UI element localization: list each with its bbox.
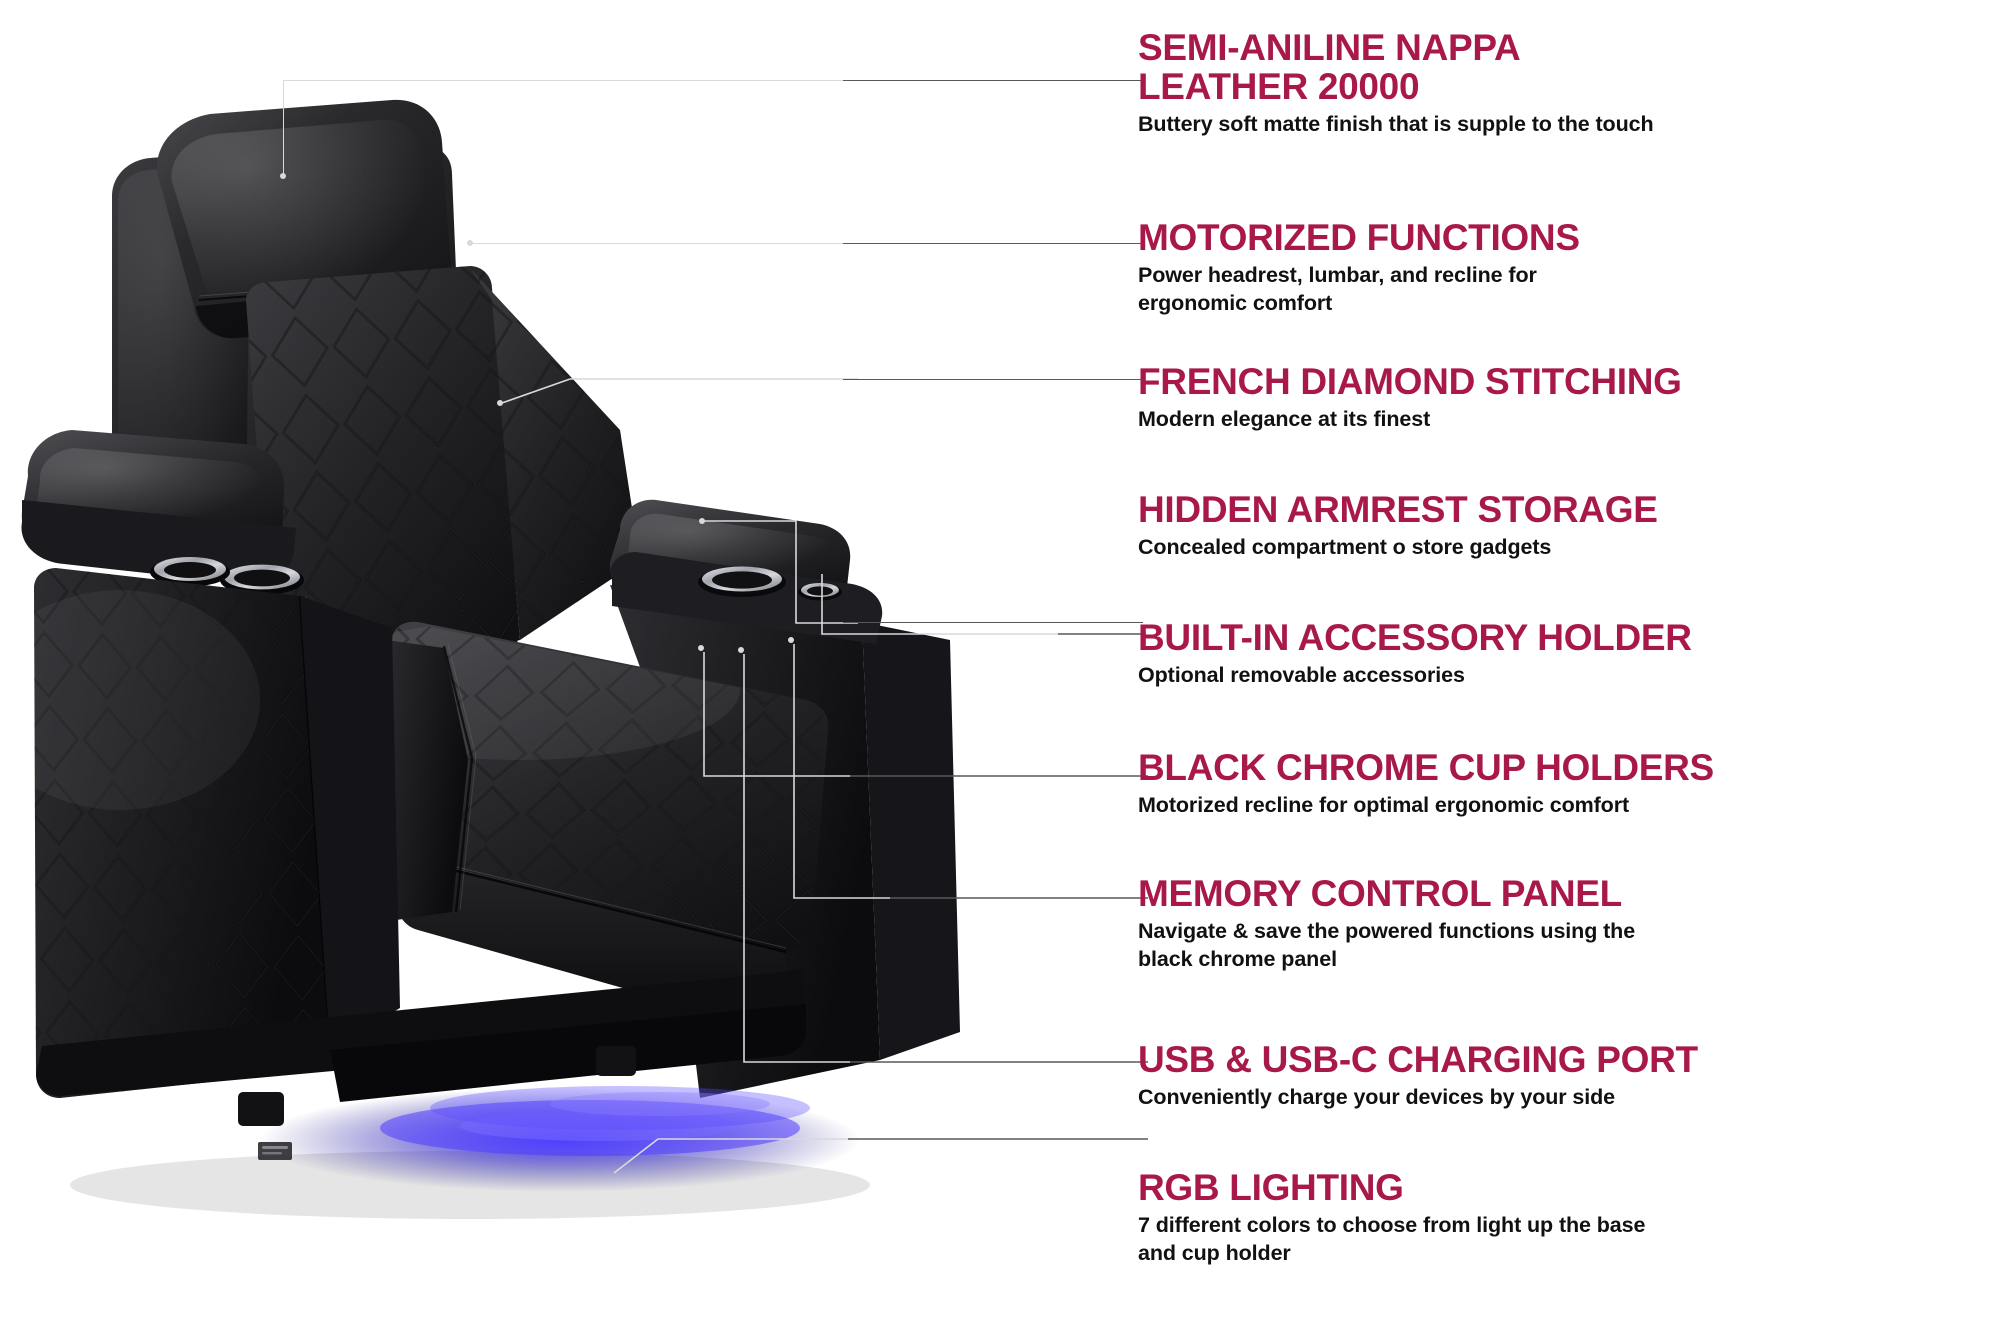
- feature-description: Optional removable accessories: [1138, 662, 1998, 690]
- feature-title: SEMI-ANILINE NAPPA LEATHER 20000: [1138, 28, 1998, 106]
- feature-title: RGB LIGHTING: [1138, 1168, 1998, 1207]
- feature-title: HIDDEN ARMREST STORAGE: [1138, 490, 1998, 529]
- feature-semi-aniline-nappa-leather: SEMI-ANILINE NAPPA LEATHER 20000 Buttery…: [1138, 28, 1998, 139]
- feature-built-in-accessory-holder: BUILT-IN ACCESSORY HOLDER Optional remov…: [1138, 618, 1998, 690]
- feature-description: Concealed compartment o store gadgets: [1138, 534, 1998, 562]
- product-image-recliner: [0, 0, 1140, 1334]
- feature-memory-control-panel: MEMORY CONTROL PANEL Navigate & save the…: [1138, 874, 1998, 974]
- feature-hidden-armrest-storage: HIDDEN ARMREST STORAGE Concealed compart…: [1138, 490, 1998, 562]
- feature-description: 7 different colors to choose from light …: [1138, 1212, 1998, 1268]
- feature-description: Power headrest, lumbar, and recline for …: [1138, 262, 1998, 318]
- feature-description: Conveniently charge your devices by your…: [1138, 1084, 1998, 1112]
- feature-usb-charging-port: USB & USB-C CHARGING PORT Conveniently c…: [1138, 1040, 1998, 1112]
- feature-title: FRENCH DIAMOND STITCHING: [1138, 362, 1998, 401]
- feature-black-chrome-cup-holders: BLACK CHROME CUP HOLDERS Motorized recli…: [1138, 748, 1998, 820]
- feature-title: BUILT-IN ACCESSORY HOLDER: [1138, 618, 1998, 657]
- feature-title: MOTORIZED FUNCTIONS: [1138, 218, 1998, 257]
- feature-motorized-functions: MOTORIZED FUNCTIONS Power headrest, lumb…: [1138, 218, 1998, 318]
- feature-rgb-lighting: RGB LIGHTING 7 different colors to choos…: [1138, 1168, 1998, 1268]
- feature-title: USB & USB-C CHARGING PORT: [1138, 1040, 1998, 1079]
- feature-french-diamond-stitching: FRENCH DIAMOND STITCHING Modern elegance…: [1138, 362, 1998, 434]
- product-feature-diagram: SEMI-ANILINE NAPPA LEATHER 20000 Buttery…: [0, 0, 2000, 1334]
- brand-badge: [254, 1138, 296, 1164]
- feature-description: Modern elegance at its finest: [1138, 406, 1998, 434]
- feature-description: Motorized recline for optimal ergonomic …: [1138, 792, 1998, 820]
- feature-list: SEMI-ANILINE NAPPA LEATHER 20000 Buttery…: [1138, 0, 2000, 1334]
- feature-title: MEMORY CONTROL PANEL: [1138, 874, 1998, 913]
- feature-description: Buttery soft matte finish that is supple…: [1138, 111, 1998, 139]
- feature-description: Navigate & save the powered functions us…: [1138, 918, 1998, 974]
- feature-title: BLACK CHROME CUP HOLDERS: [1138, 748, 1998, 787]
